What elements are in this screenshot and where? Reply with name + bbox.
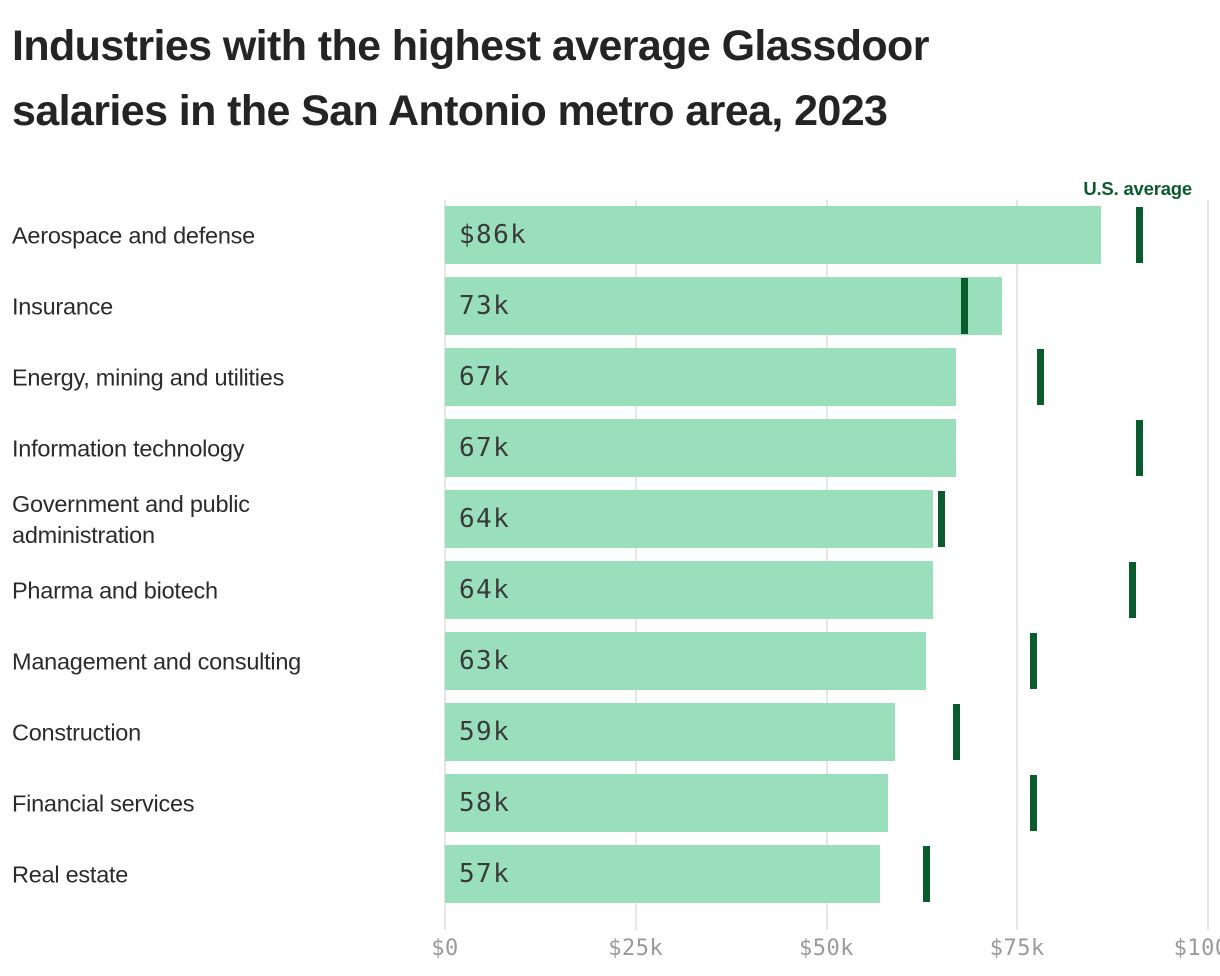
bar-row[interactable]: Information technology67k [0,413,1220,484]
bar-value-label: 67k [459,419,510,477]
us-average-marker[interactable] [1136,207,1143,263]
us-average-marker[interactable] [923,846,930,902]
bar-row[interactable]: Construction59k [0,697,1220,768]
bar-value-label: 59k [459,703,510,761]
bar-row[interactable]: Real estate57k [0,839,1220,910]
bar-track: 67k [0,342,1220,413]
page-title: Industries with the highest average Glas… [12,14,1142,145]
bar-track: 59k [0,697,1220,768]
bar-row[interactable]: Financial services58k [0,768,1220,839]
us-average-marker[interactable] [1129,562,1136,618]
chart-plot-area: Aerospace and defense$86kInsurance73kEne… [0,200,1220,930]
bar-track: 57k [0,839,1220,910]
us-average-marker[interactable] [1037,349,1044,405]
bar-row[interactable]: Energy, mining and utilities67k [0,342,1220,413]
bar[interactable] [445,561,933,619]
bar-row[interactable]: Pharma and biotech64k [0,555,1220,626]
us-average-marker[interactable] [1136,420,1143,476]
bar[interactable] [445,490,933,548]
us-average-marker[interactable] [961,278,968,334]
title-line-2: salaries in the San Antonio metro area, … [12,79,1142,144]
bar-rows: Aerospace and defense$86kInsurance73kEne… [0,200,1220,910]
bar-track: 63k [0,626,1220,697]
bar-track: 67k [0,413,1220,484]
bar-row[interactable]: Aerospace and defense$86k [0,200,1220,271]
bar-value-label: 64k [459,561,510,619]
bar[interactable] [445,348,956,406]
x-tick-label: $100k [1174,936,1220,961]
x-tick-label: $25k [608,936,663,961]
us-average-marker[interactable] [1030,775,1037,831]
bar-value-label: 64k [459,490,510,548]
bar-track: 64k [0,555,1220,626]
us-average-marker[interactable] [1030,633,1037,689]
bar-row[interactable]: Government and public administration64k [0,484,1220,555]
bar[interactable] [445,703,895,761]
bar-value-label: 58k [459,774,510,832]
bar-value-label: 67k [459,348,510,406]
bar[interactable] [445,206,1101,264]
bar-value-label: 57k [459,845,510,903]
bar-track: 64k [0,484,1220,555]
bar[interactable] [445,845,880,903]
us-average-marker[interactable] [938,491,945,547]
bar-track: 58k [0,768,1220,839]
us-average-marker[interactable] [953,704,960,760]
bar-track: 73k [0,271,1220,342]
bar[interactable] [445,632,926,690]
bar-row[interactable]: Management and consulting63k [0,626,1220,697]
bar[interactable] [445,419,956,477]
x-tick-label: $0 [431,936,459,961]
title-line-1: Industries with the highest average Glas… [12,14,1142,79]
bar-value-label: $86k [459,206,527,264]
x-tick-label: $75k [990,936,1045,961]
bar-value-label: 73k [459,277,510,335]
bar[interactable] [445,774,888,832]
bar-track: $86k [0,200,1220,271]
bar[interactable] [445,277,1002,335]
bar-value-label: 63k [459,632,510,690]
bar-row[interactable]: Insurance73k [0,271,1220,342]
x-axis: $0$25k$50k$75k$100k [0,930,1220,976]
legend-us-average-label: U.S. average [1083,178,1192,200]
x-tick-label: $50k [799,936,854,961]
